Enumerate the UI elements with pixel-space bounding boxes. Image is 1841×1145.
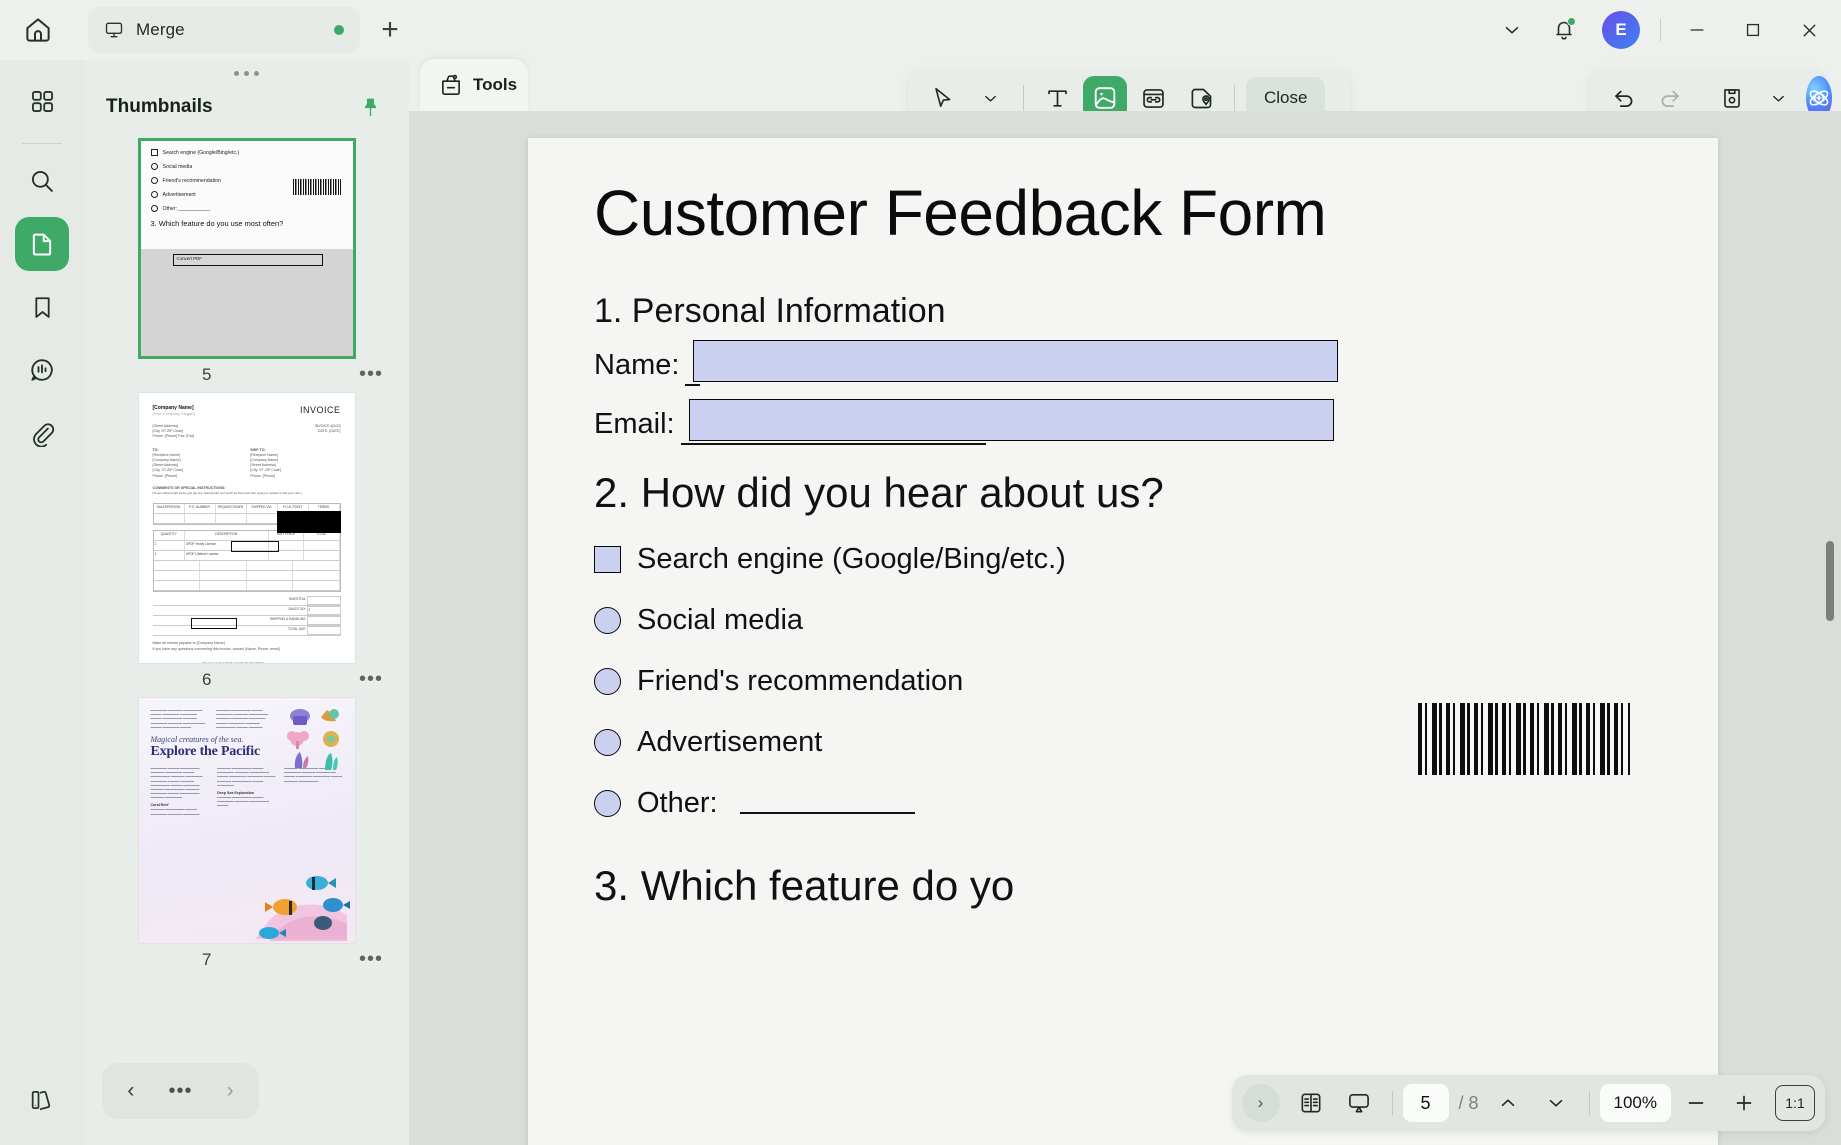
total-value bbox=[307, 616, 341, 625]
thumbnail-page-number: 7 bbox=[202, 950, 211, 970]
radio-other[interactable] bbox=[594, 790, 621, 817]
thumb-option-row: Other: ___________ bbox=[151, 205, 343, 212]
thumbnail-more-button[interactable]: ••• bbox=[359, 668, 383, 691]
cursor-icon bbox=[929, 85, 955, 111]
invoice-recipients: TO: [Recipient Name] [Company Name] [Str… bbox=[153, 448, 341, 479]
table-row: SUBTOTAL bbox=[153, 596, 341, 606]
thumb-option-row: Social media bbox=[151, 163, 343, 170]
m7-paragraph: ▬▬▬▬▬▬ ▬▬▬▬▬ ▬▬▬▬▬▬▬ ▬▬▬▬ ▬▬▬▬▬▬ ▬▬▬▬▬▬ … bbox=[151, 708, 209, 729]
panel-header: Thumbnails bbox=[84, 82, 409, 132]
table-cell bbox=[269, 551, 304, 560]
section-heading-2: 2. How did you hear about us? bbox=[594, 469, 1652, 517]
radio-advertisement[interactable] bbox=[594, 729, 621, 756]
option-label: Social media bbox=[637, 604, 803, 637]
close-window-button[interactable] bbox=[1783, 7, 1835, 53]
table-header-cell: QUANTITY bbox=[154, 531, 185, 540]
plus-icon bbox=[1732, 1091, 1756, 1115]
option-label: Advertisement bbox=[637, 726, 822, 759]
option-label: Friend's recommendation bbox=[637, 665, 963, 698]
table-cell bbox=[154, 514, 185, 523]
tab-title: Merge bbox=[136, 20, 185, 40]
sidebar-item-comments[interactable] bbox=[15, 343, 69, 397]
thumbnail-page-5-content: Search engine (Google/Bing/etc.) Social … bbox=[141, 141, 353, 356]
thumb-option-label: Other: ___________ bbox=[163, 206, 211, 212]
option-label: Other: bbox=[637, 787, 718, 820]
sidebar-item-search[interactable] bbox=[15, 154, 69, 208]
ai-sparkle-icon bbox=[1806, 85, 1832, 111]
thumbnail-panel: Thumbnails Search engine (Google/Bing/et… bbox=[84, 60, 409, 1145]
option-label: Search engine (Google/Bing/etc.) bbox=[637, 543, 1066, 576]
table-header-cell: DESCRIPTION bbox=[185, 531, 269, 540]
titlebar-chevron-button[interactable] bbox=[1488, 6, 1536, 54]
thumbnail-page-7-content: ▬▬▬▬▬▬ ▬▬▬▬▬ ▬▬▬▬▬▬▬ ▬▬▬▬ ▬▬▬▬▬▬ ▬▬▬▬▬▬ … bbox=[139, 698, 355, 943]
stamp-location-icon bbox=[1188, 85, 1215, 112]
thumb-option-label: Social media bbox=[163, 164, 193, 170]
invoice-totals: SUBTOTAL SALES TAX 2 SHIPPING & HANDLING bbox=[153, 596, 341, 636]
sidebar-item-attachments[interactable] bbox=[15, 406, 69, 460]
tools-tab-label: Tools bbox=[473, 75, 517, 95]
checkbox-search-engine[interactable] bbox=[594, 546, 621, 573]
table-cell bbox=[247, 581, 294, 590]
m7-paragraph: ▬▬▬▬▬ ▬▬▬▬▬▬▬ ▬▬▬▬ ▬▬▬▬▬▬ ▬▬▬▬▬ ▬▬▬▬▬▬▬ … bbox=[217, 795, 276, 808]
page-layout-button[interactable] bbox=[1288, 1081, 1334, 1125]
app-window: Merge + E bbox=[0, 0, 1841, 1145]
name-input[interactable] bbox=[693, 340, 1338, 382]
invoice-meta: INVOICE #[100] DATE: [DATE] bbox=[315, 424, 341, 440]
thumb-checkbox bbox=[151, 149, 158, 156]
save-icon bbox=[1719, 85, 1745, 111]
radio-social-media[interactable] bbox=[594, 607, 621, 634]
previous-page-button[interactable] bbox=[1485, 1081, 1531, 1125]
table-row: TOTAL DUE bbox=[153, 626, 341, 636]
total-label: SUBTOTAL bbox=[247, 596, 307, 605]
section-heading-1: 1. Personal Information bbox=[594, 292, 1652, 331]
thumbnail-more-button[interactable]: ••• bbox=[359, 363, 383, 386]
thumbnail-list[interactable]: Search engine (Google/Bing/etc.) Social … bbox=[84, 138, 409, 1068]
field-label-name: Name: bbox=[594, 349, 679, 386]
sidebar-item-theme[interactable] bbox=[15, 1073, 69, 1127]
page-layout-icon bbox=[1298, 1090, 1324, 1116]
status-bar: › 5 / 8 100% 1:1 bbox=[1232, 1075, 1826, 1131]
link-icon bbox=[1140, 85, 1167, 112]
thumbnail-meta: 6 ••• bbox=[84, 664, 409, 691]
thumbnail-page-6-content: [Company Name] [Your Company Slogan] INV… bbox=[139, 393, 355, 663]
table-cell bbox=[154, 571, 201, 580]
rail-divider bbox=[22, 143, 62, 144]
table-cell bbox=[293, 571, 340, 580]
total-label: SALES TAX bbox=[247, 606, 307, 615]
table-row bbox=[154, 571, 340, 581]
invoice-thanks: THANK YOU FOR YOUR BUSINESS! bbox=[203, 662, 341, 664]
thumbnail-nav-more-button[interactable]: ••• bbox=[168, 1080, 192, 1103]
invoice-address: [Street Address] [City, ST ZIP Code] Pho… bbox=[153, 424, 195, 440]
thumb-dropdown-value: Convert PDF bbox=[174, 255, 322, 261]
radio-friends-recommendation[interactable] bbox=[594, 668, 621, 695]
pin-panel-button[interactable] bbox=[353, 90, 387, 124]
left-rail bbox=[0, 60, 84, 1145]
invoice-to-value: [Recipient Name] [Company Name] [Street … bbox=[153, 453, 243, 479]
table-header-cell: P.O. NUMBER bbox=[185, 504, 216, 513]
total-value bbox=[307, 596, 341, 605]
table-cell bbox=[293, 561, 340, 570]
chevron-down-icon bbox=[1545, 1092, 1567, 1114]
table-cell bbox=[185, 514, 216, 523]
grip-dot bbox=[244, 71, 249, 76]
presentation-mode-button[interactable] bbox=[1336, 1081, 1382, 1125]
form-field-row-email: Email: bbox=[594, 408, 1652, 445]
tools-tab[interactable]: Tools bbox=[420, 59, 528, 111]
total-label: TOTAL DUE bbox=[247, 626, 307, 635]
m7-top-columns: ▬▬▬▬▬▬ ▬▬▬▬▬ ▬▬▬▬▬▬▬ ▬▬▬▬ ▬▬▬▬▬▬ ▬▬▬▬▬▬ … bbox=[151, 708, 274, 729]
thumb-dropdown-field: Convert PDF bbox=[173, 254, 323, 266]
invoice-dropdown-field bbox=[231, 541, 279, 552]
notifications-button[interactable] bbox=[1540, 6, 1588, 54]
search-icon bbox=[28, 167, 56, 195]
total-value: 2 bbox=[307, 606, 341, 615]
zoom-in-button[interactable] bbox=[1721, 1081, 1767, 1125]
barcode-image bbox=[1418, 703, 1630, 775]
m7-paragraph: ▬▬▬▬▬ ▬▬▬▬▬▬▬ ▬▬▬▬ ▬▬▬▬▬▬ ▬▬▬▬▬ ▬▬▬▬▬▬ bbox=[151, 807, 210, 815]
bookmark-icon bbox=[29, 294, 56, 321]
panel-title: Thumbnails bbox=[106, 96, 213, 118]
m7-col-2: ▬▬▬▬▬ ▬▬▬▬▬▬▬ ▬▬▬▬ ▬▬▬▬▬▬ ▬▬▬▬▬ ▬▬▬▬▬▬▬ … bbox=[217, 766, 276, 816]
table-cell bbox=[154, 581, 201, 590]
table-cell bbox=[293, 581, 340, 590]
table-cell-qty: 1 bbox=[154, 541, 185, 550]
thumb-option-label: Advertisement bbox=[163, 192, 196, 198]
invoice-slogan: [Your Company Slogan] bbox=[153, 411, 195, 416]
invoice-address-row: [Street Address] [City, ST ZIP Code] Pho… bbox=[153, 424, 341, 440]
invoice-items-table: QUANTITY DESCRIPTION UNIT PRICE TOTAL 1 … bbox=[153, 530, 341, 592]
table-cell-qty: 1 bbox=[154, 551, 185, 560]
pin-icon bbox=[359, 96, 382, 119]
table-cell bbox=[247, 571, 294, 580]
thumbnail-item-5[interactable]: Search engine (Google/Bing/etc.) Social … bbox=[84, 138, 409, 386]
invoice-company-block: [Company Name] [Your Company Slogan] bbox=[153, 405, 195, 416]
statusbar-divider bbox=[1589, 1091, 1590, 1115]
table-header-cell: SALESPERSON bbox=[154, 504, 185, 513]
pdf-page[interactable]: Customer Feedback Form 1. Personal Infor… bbox=[528, 138, 1718, 1145]
table-row: SALES TAX 2 bbox=[153, 606, 341, 616]
thumbnail-prev-button[interactable]: ‹ bbox=[111, 1071, 151, 1111]
chevron-down-icon bbox=[1769, 89, 1788, 108]
undo-icon bbox=[1611, 85, 1637, 111]
sidebar-item-bookmarks[interactable] bbox=[15, 280, 69, 334]
invoice-comments-note: [To get started right away, just tap any… bbox=[153, 491, 341, 495]
text-icon bbox=[1044, 85, 1071, 112]
invoice-doc-type: INVOICE bbox=[300, 405, 341, 416]
toolbox-icon bbox=[438, 72, 464, 98]
invoice-header: [Company Name] [Your Company Slogan] INV… bbox=[153, 405, 341, 416]
thumbnail-item-7[interactable]: ▬▬▬▬▬▬ ▬▬▬▬▬ ▬▬▬▬▬▬▬ ▬▬▬▬ ▬▬▬▬▬▬ ▬▬▬▬▬▬ … bbox=[84, 697, 409, 971]
zoom-level-display[interactable]: 100% bbox=[1600, 1084, 1671, 1122]
next-page-button[interactable] bbox=[1533, 1081, 1579, 1125]
total-value bbox=[307, 626, 341, 635]
grip-dot bbox=[254, 71, 259, 76]
thumbnail-navigation: ‹ ••• › bbox=[102, 1063, 259, 1119]
table-cell bbox=[200, 571, 247, 580]
thumbnail-barcode bbox=[293, 179, 341, 195]
table-cell bbox=[304, 541, 339, 550]
minimize-icon bbox=[1687, 20, 1707, 40]
table-cell bbox=[154, 561, 201, 570]
monitor-icon bbox=[104, 20, 124, 40]
total-pages-label: / 8 bbox=[1459, 1093, 1479, 1114]
table-row: 1 UPDF Lifetime License bbox=[154, 551, 340, 561]
document-viewport[interactable]: Customer Feedback Form 1. Personal Infor… bbox=[409, 111, 1841, 1145]
chevron-up-icon bbox=[1497, 1092, 1519, 1114]
table-header-cell: REQUISITIONER bbox=[216, 504, 247, 513]
statusbar-divider bbox=[1392, 1091, 1393, 1115]
m7-col-1: ▬▬▬▬▬▬ ▬▬▬▬ ▬▬▬▬▬▬▬ ▬▬▬▬▬ ▬▬▬▬▬▬ ▬▬▬▬ ▬▬… bbox=[151, 766, 210, 816]
maximize-icon bbox=[1743, 20, 1763, 40]
option-row-search-engine[interactable]: Search engine (Google/Bing/etc.) bbox=[594, 543, 1652, 576]
thumbnail-more-button[interactable]: ••• bbox=[359, 948, 383, 971]
home-icon bbox=[23, 15, 53, 45]
page-icon bbox=[28, 230, 56, 258]
thumbnail-next-button[interactable]: › bbox=[210, 1071, 250, 1111]
invoice-shipto-value: [Recipient Name] [Company Name] [Street … bbox=[250, 453, 340, 479]
sidebar-item-grid[interactable] bbox=[15, 74, 69, 128]
thumbnail-meta: 5 ••• bbox=[84, 359, 409, 386]
thumb-radio bbox=[151, 205, 158, 212]
thumb-radio bbox=[151, 177, 158, 184]
grip-dot bbox=[234, 71, 239, 76]
table-header-cell: SHIPPED VIA bbox=[247, 504, 278, 513]
thumb-option-label: Friend's recommendation bbox=[163, 178, 221, 184]
thumbnail-meta: 7 ••• bbox=[84, 944, 409, 971]
thumbnail-page-number: 6 bbox=[202, 670, 211, 690]
thumb-option-row: Search engine (Google/Bing/etc.) bbox=[151, 149, 343, 156]
toolbar-divider bbox=[1023, 85, 1024, 111]
table-cell bbox=[200, 561, 247, 570]
thumb-question-3: 3. Which feature do you use most often? bbox=[151, 219, 343, 228]
redo-icon bbox=[1657, 85, 1683, 111]
option-row-friends-recommendation[interactable]: Friend's recommendation bbox=[594, 665, 1652, 698]
titlebar-divider bbox=[1660, 19, 1661, 41]
page-number-input[interactable]: 5 bbox=[1403, 1084, 1449, 1122]
field-label-email: Email: bbox=[594, 408, 675, 445]
minus-icon bbox=[1684, 1091, 1708, 1115]
coral-illustrations bbox=[287, 706, 349, 778]
table-row bbox=[154, 561, 340, 571]
chevron-down-icon bbox=[1501, 19, 1523, 41]
thumb-radio bbox=[151, 191, 158, 198]
vertical-scrollbar[interactable] bbox=[1826, 541, 1834, 621]
presentation-icon bbox=[1346, 1090, 1372, 1116]
minimize-button[interactable] bbox=[1671, 7, 1723, 53]
fit-ratio-button[interactable]: 1:1 bbox=[1775, 1085, 1815, 1121]
zoom-out-button[interactable] bbox=[1673, 1081, 1719, 1125]
grid-icon bbox=[29, 88, 56, 115]
avatar[interactable]: E bbox=[1602, 11, 1640, 49]
tab-modified-dot bbox=[334, 25, 344, 35]
attachment-icon bbox=[29, 420, 56, 447]
notification-badge bbox=[1567, 17, 1576, 26]
thumbnail-item-6[interactable]: [Company Name] [Your Company Slogan] INV… bbox=[84, 392, 409, 691]
title-bar: Merge + E bbox=[0, 0, 1841, 60]
thumbnail-page-5[interactable]: Search engine (Google/Bing/etc.) Social … bbox=[138, 138, 356, 359]
form-field-row-name: Name: bbox=[594, 349, 1652, 386]
thumbnail-page-number: 5 bbox=[202, 365, 211, 385]
thumbnail-page-6[interactable]: [Company Name] [Your Company Slogan] INV… bbox=[138, 392, 356, 664]
expand-statusbar-button[interactable]: › bbox=[1242, 1084, 1280, 1122]
option-row-social-media[interactable]: Social media bbox=[594, 604, 1652, 637]
invoice-shipto-block: SHIP TO: [Recipient Name] [Company Name]… bbox=[250, 448, 340, 479]
chevron-down-icon bbox=[981, 89, 1000, 108]
invoice-dropdown-field-2 bbox=[191, 618, 237, 629]
table-row bbox=[154, 581, 340, 591]
page-title: Customer Feedback Form bbox=[594, 178, 1652, 248]
email-input[interactable] bbox=[689, 399, 1334, 441]
m7-paragraph: ▬▬▬▬▬▬ ▬▬▬▬ ▬▬▬▬▬▬▬ ▬▬▬▬▬ ▬▬▬▬▬▬ ▬▬▬▬ ▬▬… bbox=[151, 766, 210, 800]
image-icon bbox=[1091, 84, 1119, 112]
table-cell bbox=[200, 581, 247, 590]
document-tab-merge[interactable]: Merge bbox=[88, 7, 360, 53]
table-cell bbox=[304, 551, 339, 560]
titlebar-right-controls: E bbox=[1488, 6, 1841, 54]
m7-paragraph: ▬▬▬▬▬ ▬▬▬▬▬▬▬ ▬▬▬▬ ▬▬▬▬▬▬ ▬▬▬▬▬ ▬▬▬▬▬▬▬ … bbox=[217, 766, 276, 787]
invoice-redaction-block bbox=[277, 511, 341, 533]
invoice-to-block: TO: [Recipient Name] [Company Name] [Str… bbox=[153, 448, 243, 479]
section-heading-3: 3. Which feature do yo bbox=[594, 862, 1652, 910]
total-label: SHIPPING & HANDLING bbox=[247, 616, 307, 625]
comment-icon bbox=[28, 356, 56, 384]
other-blank-line bbox=[740, 794, 915, 814]
home-button[interactable] bbox=[10, 2, 66, 58]
panel-drag-handle[interactable] bbox=[84, 66, 409, 80]
new-tab-button[interactable]: + bbox=[368, 8, 412, 52]
table-cell-desc: UPDF Lifetime License bbox=[185, 551, 269, 560]
maximize-button[interactable] bbox=[1727, 7, 1779, 53]
invoice-footer-2: If you have any questions concerning thi… bbox=[153, 647, 341, 652]
thumb-radio bbox=[151, 163, 158, 170]
table-cell bbox=[247, 561, 294, 570]
toolbar-divider bbox=[1234, 85, 1235, 111]
fish-illustrations bbox=[255, 863, 351, 941]
table-cell bbox=[216, 514, 247, 523]
table-row: SHIPPING & HANDLING bbox=[153, 616, 341, 626]
sidebar-item-thumbnails[interactable] bbox=[15, 217, 69, 271]
option-row-other[interactable]: Other: bbox=[594, 787, 1652, 820]
table-cell bbox=[247, 514, 278, 523]
close-icon bbox=[1799, 20, 1820, 41]
thumbnail-page-7[interactable]: ▬▬▬▬▬▬ ▬▬▬▬▬ ▬▬▬▬▬▬▬ ▬▬▬▬ ▬▬▬▬▬▬ ▬▬▬▬▬▬ … bbox=[138, 697, 356, 944]
palette-icon bbox=[28, 1086, 56, 1114]
m7-paragraph: ▬▬▬▬▬ ▬▬▬▬▬▬▬ ▬▬▬▬ ▬▬▬▬▬▬ ▬▬▬▬▬ ▬▬▬▬▬▬▬ … bbox=[216, 708, 273, 729]
thumb-option-label: Search engine (Google/Bing/etc.) bbox=[163, 150, 240, 156]
